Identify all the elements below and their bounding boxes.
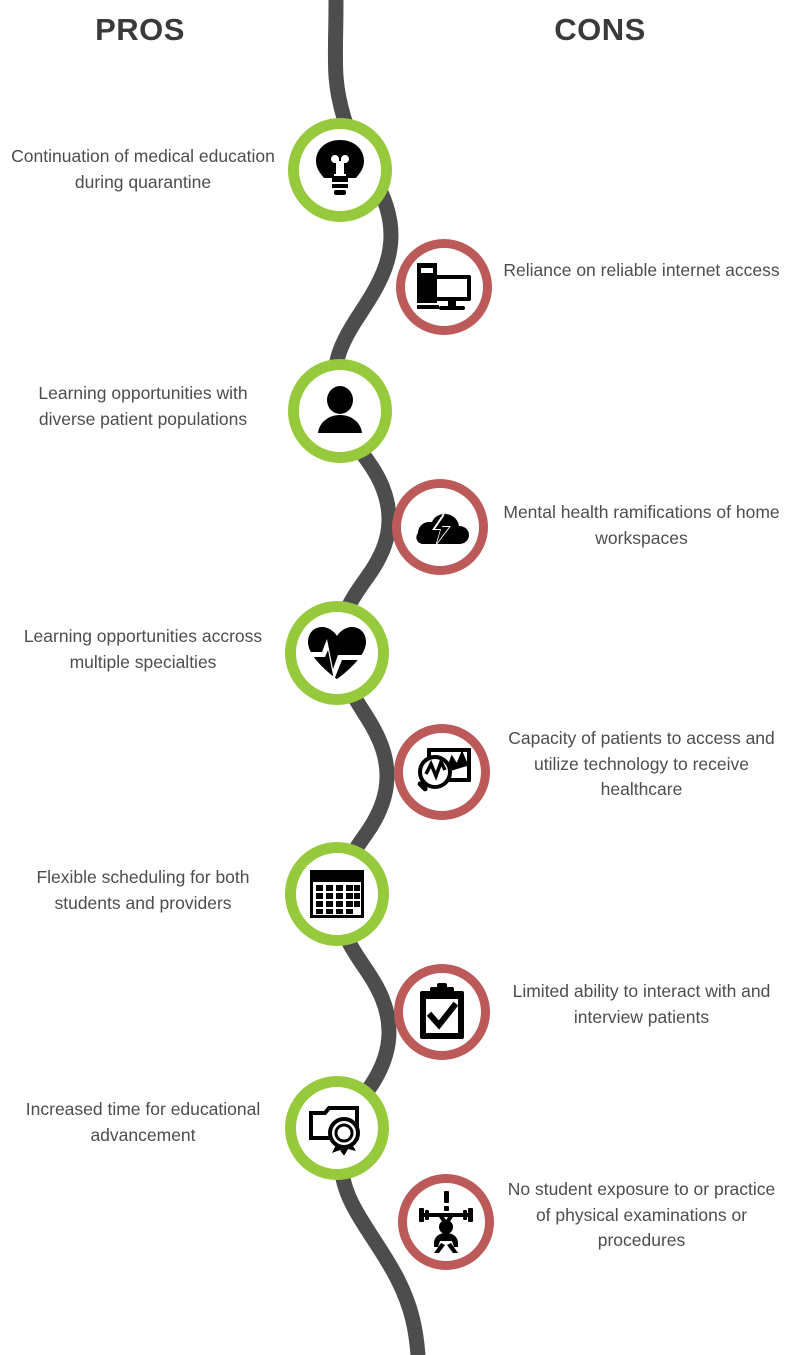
badge-computer[interactable] — [396, 239, 492, 335]
pros-label-4: Flexible scheduling for both students an… — [8, 865, 278, 916]
badge-lightbulb[interactable] — [288, 118, 392, 222]
badge-certificate[interactable] — [285, 1076, 389, 1180]
desktop-computer-icon — [415, 261, 473, 313]
chart-magnifier-icon — [411, 744, 473, 800]
badge-heart-pulse[interactable] — [285, 601, 389, 705]
storm-cloud-icon — [410, 506, 470, 548]
winding-path — [0, 0, 787, 1355]
badge-person[interactable] — [288, 359, 392, 463]
cons-label-3: Capacity of patients to access and utili… — [500, 726, 783, 803]
badge-storm-cloud[interactable] — [392, 479, 488, 575]
calendar-icon — [308, 868, 366, 920]
badge-chart-magnifier[interactable] — [394, 724, 490, 820]
cons-label-2: Mental health ramifications of home work… — [500, 500, 783, 551]
person-icon — [313, 385, 367, 437]
clipboard-check-icon — [418, 983, 466, 1041]
pros-cons-infographic: PROS CONS Continuation of medical educat… — [0, 0, 787, 1355]
pros-label-1: Continuation of medical education during… — [8, 144, 278, 195]
pros-label-2: Learning opportunities with diverse pati… — [8, 381, 278, 432]
cons-label-5: No student exposure to or practice of ph… — [500, 1177, 783, 1254]
pros-heading: PROS — [40, 12, 240, 48]
certificate-icon — [307, 1101, 367, 1155]
badge-weightlifter[interactable] — [398, 1174, 494, 1270]
weightlifter-icon — [415, 1191, 477, 1253]
pros-label-3: Learning opportunities accross multiple … — [8, 624, 278, 675]
pros-label-5: Increased time for educational advanceme… — [8, 1097, 278, 1148]
badge-clipboard-check[interactable] — [394, 964, 490, 1060]
heart-pulse-icon — [306, 625, 368, 681]
badge-calendar[interactable] — [285, 842, 389, 946]
lightbulb-icon — [311, 139, 369, 201]
cons-label-1: Reliance on reliable internet access — [500, 258, 783, 284]
cons-heading: CONS — [500, 12, 700, 48]
cons-label-4: Limited ability to interact with and int… — [500, 979, 783, 1030]
